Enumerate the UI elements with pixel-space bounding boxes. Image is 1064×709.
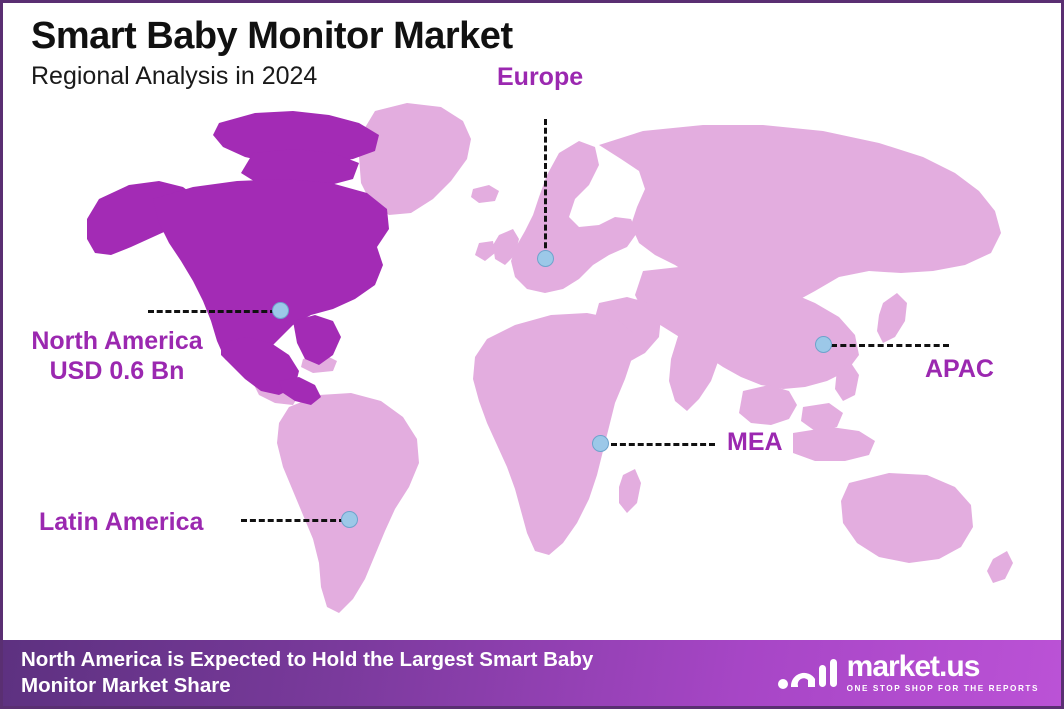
landmass-asia-south — [635, 267, 859, 389]
region-label-latin-america: Latin America — [39, 508, 203, 538]
banner-headline-line2: Monitor Market Share — [21, 673, 593, 699]
marker-north-america[interactable] — [272, 302, 289, 319]
marker-mea[interactable] — [592, 435, 609, 452]
page-title: Smart Baby Monitor Market — [31, 17, 513, 57]
world-map-container — [3, 3, 1064, 643]
marker-europe[interactable] — [537, 250, 554, 267]
landmass-borneo — [801, 403, 843, 431]
landmass-southeast-asia — [739, 385, 797, 425]
region-label-latin-america-name: Latin America — [39, 508, 203, 536]
landmass-greenland — [359, 103, 471, 215]
map-region-rest-of-world — [251, 103, 1013, 613]
leader-line-latin-america — [241, 519, 345, 522]
leader-line-mea — [611, 443, 715, 446]
landmass-iceland — [471, 185, 499, 203]
landmass-europe — [511, 141, 637, 293]
region-label-apac: APAC — [925, 355, 994, 385]
landmass-ireland — [475, 241, 495, 261]
landmass-new-zealand — [987, 551, 1013, 583]
banner-headline-line1: North America is Expected to Hold the La… — [21, 647, 593, 673]
market-us-logo-mark — [777, 653, 839, 693]
brand-logo[interactable]: market.us ONE STOP SHOP FOR THE REPORTS — [777, 652, 1039, 693]
world-map-svg — [3, 3, 1064, 643]
landmass-japan — [877, 293, 907, 343]
marker-latin-america[interactable] — [341, 511, 358, 528]
region-label-north-america-value: USD 0.6 Bn — [17, 357, 217, 387]
landmass-madagascar — [619, 469, 641, 513]
header: Smart Baby Monitor Market Regional Analy… — [31, 17, 513, 90]
logo-tagline: ONE STOP SHOP FOR THE REPORTS — [847, 685, 1039, 693]
leader-line-north-america — [148, 310, 276, 313]
landmass-usa-southeast — [293, 315, 341, 365]
landmass-philippines — [835, 363, 859, 401]
landmass-indonesia — [793, 427, 875, 461]
region-label-mea-name: MEA — [727, 428, 783, 456]
landmass-south-america — [277, 393, 419, 613]
marker-apac[interactable] — [815, 336, 832, 353]
leader-line-europe — [544, 119, 547, 257]
page-subtitle: Regional Analysis in 2024 — [31, 63, 513, 91]
logo-text-block: market.us ONE STOP SHOP FOR THE REPORTS — [847, 652, 1039, 693]
region-label-north-america-name: North America — [31, 327, 202, 355]
logo-wordmark: market.us — [847, 652, 1039, 682]
region-label-north-america: North America USD 0.6 Bn — [17, 327, 217, 386]
infographic-root: Smart Baby Monitor Market Regional Analy… — [0, 0, 1064, 709]
banner-headline: North America is Expected to Hold the La… — [21, 647, 593, 698]
landmass-africa — [473, 313, 633, 555]
bottom-banner: North America is Expected to Hold the La… — [3, 640, 1061, 706]
region-label-apac-name: APAC — [925, 355, 994, 383]
leader-line-apac — [831, 344, 949, 347]
region-label-mea: MEA — [727, 428, 783, 458]
landmass-india — [669, 329, 719, 411]
landmass-australia — [841, 473, 973, 563]
